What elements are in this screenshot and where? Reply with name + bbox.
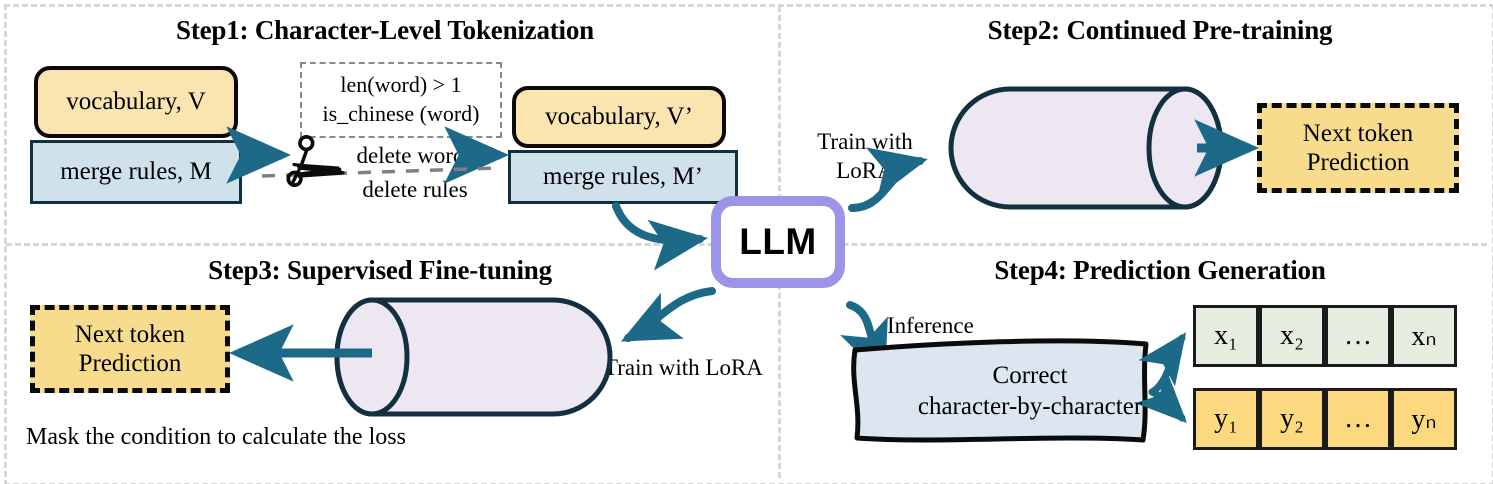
- step2-title: Step2: Continued Pre-training: [850, 15, 1470, 46]
- step2-output-line1: Next token: [1303, 119, 1413, 149]
- token-y-2: y₂: [1259, 388, 1325, 450]
- step4-process-line2: character-by-character: [905, 391, 1155, 422]
- token-x-2: x₂: [1259, 305, 1325, 367]
- token-x-1: x₁: [1193, 305, 1259, 367]
- step3-output-box: Next token Prediction: [30, 305, 230, 393]
- token-x-n: xₙ: [1391, 305, 1457, 367]
- step3-dataset-line1: general CSC dataset,: [370, 326, 590, 357]
- step3-train-label: Train with LoRA: [604, 355, 763, 381]
- step2-corpus-line1: Chinese books,: [965, 101, 1165, 132]
- llm-node[interactable]: LLM: [711, 196, 845, 288]
- step3-output-line1: Next token: [75, 320, 185, 350]
- step1-vocabulary-input: vocabulary, V: [34, 66, 238, 138]
- step1-merge-rules-input: merge rules, M: [30, 140, 242, 204]
- step1-vocabulary-output: vocabulary, V’: [512, 86, 726, 148]
- step2-output-box: Next token Prediction: [1257, 103, 1459, 193]
- token-y-n: yₙ: [1391, 388, 1457, 450]
- step4-process-text: Correct character-by-character: [905, 360, 1155, 423]
- step4-process-line1: Correct: [905, 360, 1155, 391]
- step2-train-label: Train with LoRA: [800, 128, 930, 186]
- step2-output-line2: Prediction: [1307, 148, 1410, 178]
- token-y-1: y₁: [1193, 388, 1259, 450]
- step3-dataset-cylinder-text: general CSC dataset, pseudo CSC dataset: [370, 326, 590, 387]
- step2-corpus-line3: encyclopedias: [965, 162, 1165, 193]
- step2-corpus-line2: internet content,: [965, 132, 1165, 163]
- step3-footnote: Mask the condition to calculate the loss: [26, 424, 406, 451]
- step1-merge-rules-output: merge rules, M’: [508, 150, 738, 204]
- step1-title: Step1: Character-Level Tokenization: [60, 15, 710, 46]
- step2-corpus-cylinder-text: Chinese books, internet content, encyclo…: [965, 101, 1165, 193]
- figure-canvas: Step1: Character-Level Tokenization voca…: [0, 0, 1493, 484]
- step3-title: Step3: Supervised Fine-tuning: [60, 255, 700, 286]
- step3-dataset-line2: pseudo CSC dataset: [370, 357, 590, 388]
- step2-train-label-line2: LoRA: [800, 157, 930, 186]
- step2-train-label-line1: Train with: [800, 128, 930, 157]
- step4-inference-label: Inference: [887, 313, 974, 339]
- step1-condition-box: len(word) > 1 is_chinese (word): [300, 62, 502, 138]
- step3-output-line2: Prediction: [79, 349, 182, 379]
- step1-delete-rules-label: delete rules: [325, 176, 505, 204]
- step1-condition-line1: len(word) > 1: [340, 71, 461, 100]
- step1-condition-line2: is_chinese (word): [322, 100, 479, 129]
- step4-title: Step4: Prediction Generation: [860, 255, 1460, 286]
- token-y-ellipsis: …: [1325, 388, 1391, 450]
- token-x-ellipsis: …: [1325, 305, 1391, 367]
- step1-delete-words-label: delete words: [325, 142, 505, 170]
